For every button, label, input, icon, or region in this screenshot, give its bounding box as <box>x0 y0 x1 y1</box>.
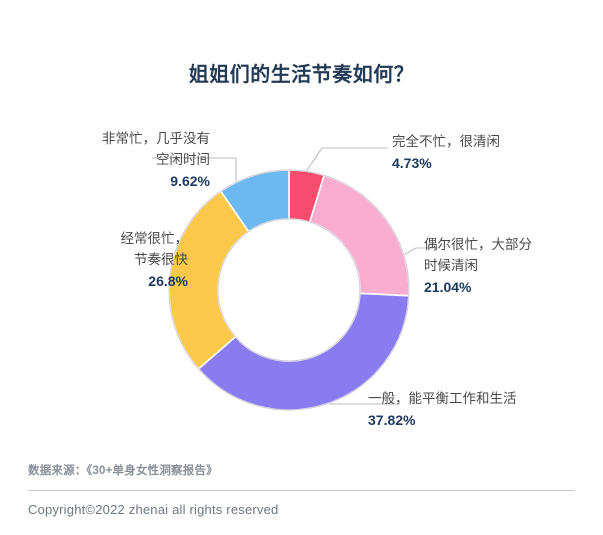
slice-label-very-busy-line2: 空闲时间 <box>156 152 210 167</box>
slice-percent-sometimes-busy: 21.04% <box>424 277 594 298</box>
slice-label-sometimes-busy-line1: 偶尔很忙，大部分 <box>424 237 532 252</box>
chart-card: 姐姐们的生活节奏如何？ 非常忙，几乎没有 空闲时间 9.62% 经常很忙， 节奏… <box>0 0 603 535</box>
chart-title: 姐姐们的生活节奏如何？ <box>0 58 603 87</box>
slice-label-often-busy: 经常很忙， 节奏很快 26.8% <box>36 228 188 292</box>
slice-label-often-busy-line1: 经常很忙， <box>121 231 189 246</box>
slice-label-not-busy: 完全不忙，很清闲 4.73% <box>392 131 582 174</box>
data-source-text: 数据来源：《30+单身女性洞察报告》 <box>28 462 575 490</box>
slice-label-very-busy-line1: 非常忙，几乎没有 <box>102 131 210 146</box>
slice-label-very-busy: 非常忙，几乎没有 空闲时间 9.62% <box>58 128 210 192</box>
slice-label-balanced: 一般，能平衡工作和生活 37.82% <box>368 388 588 431</box>
slice-label-often-busy-line2: 节奏很快 <box>134 252 188 267</box>
slice-label-sometimes-busy-line2: 时候清闲 <box>424 258 478 273</box>
slice-percent-often-busy: 26.8% <box>36 271 188 292</box>
donut-chart-svg <box>167 168 411 412</box>
donut-slices <box>169 170 409 410</box>
copyright-text: Copyright©2022 zhenai all rights reserve… <box>28 491 575 517</box>
footer: 数据来源：《30+单身女性洞察报告》 Copyright©2022 zhenai… <box>28 462 575 517</box>
slice-label-balanced-line1: 一般，能平衡工作和生活 <box>368 391 517 406</box>
slice-label-not-busy-line1: 完全不忙，很清闲 <box>392 134 500 149</box>
donut-chart <box>167 168 411 412</box>
slice-label-sometimes-busy: 偶尔很忙，大部分 时候清闲 21.04% <box>424 234 594 298</box>
slice-percent-not-busy: 4.73% <box>392 153 582 174</box>
slice-percent-balanced: 37.82% <box>368 410 588 431</box>
slice-percent-very-busy: 9.62% <box>58 171 210 192</box>
